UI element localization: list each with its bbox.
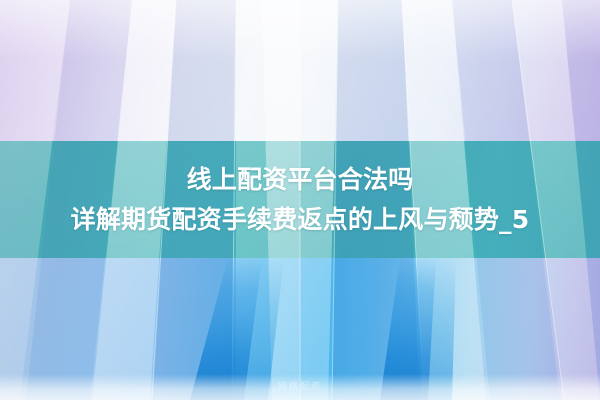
page-title: 线上配资平台合法吗 详解期货配资手续费返点的上风与颓势_5 xyxy=(6,160,594,240)
decorative-banner: 线上配资平台合法吗 详解期货配资手续费返点的上风与颓势_5 网络配资 xyxy=(0,0,600,400)
title-band: 线上配资平台合法吗 详解期货配资手续费返点的上风与颓势_5 xyxy=(0,141,600,259)
watermark-text: 网络配资 xyxy=(278,379,322,392)
